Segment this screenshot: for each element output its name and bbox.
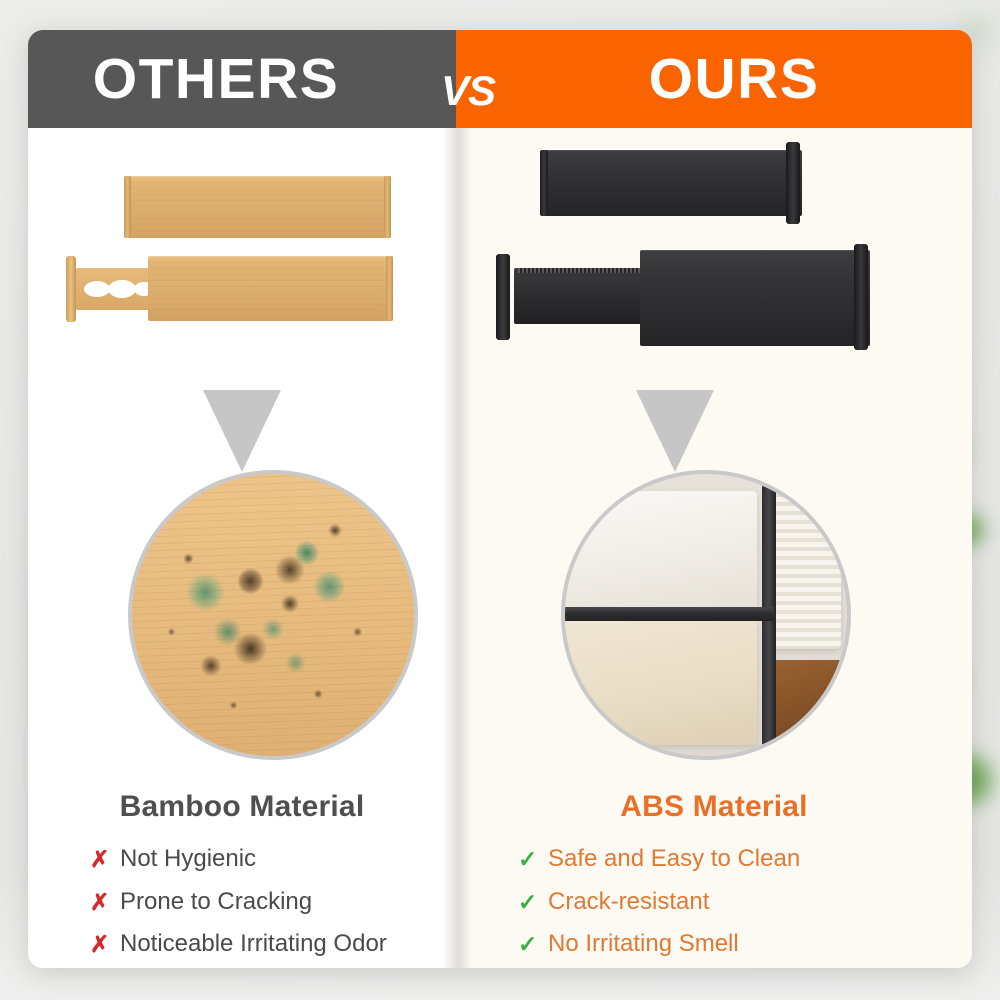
list-item: ✗ Noticeable Irritating Odor (90, 923, 456, 966)
others-footer: Bamboo Material ✗ Not Hygienic ✗ Prone t… (28, 790, 456, 966)
check-icon: ✓ (518, 924, 548, 965)
bamboo-cap-right-bottom (386, 256, 393, 321)
check-icon: ✓ (518, 882, 548, 923)
bamboo-slot-1 (84, 281, 110, 297)
header-others-label: OTHERS (28, 30, 456, 128)
bamboo-end-cap (66, 256, 76, 322)
check-icon: ✓ (518, 839, 548, 880)
header-others-panel: OTHERS (28, 30, 456, 128)
linen-drawer-inset (561, 470, 851, 760)
header-ours-label: OURS (456, 30, 972, 128)
list-item: ✗ Not Hygienic (90, 838, 456, 881)
bullet-label: Noticeable Irritating Odor (120, 923, 387, 966)
bamboo-grain-texture (126, 176, 391, 238)
comparison-card: OTHERS OURS VS (28, 30, 972, 968)
list-item: ✓ No Irritating Smell (518, 923, 972, 966)
bamboo-product-image (28, 128, 456, 388)
header-ours-panel: OURS (456, 30, 972, 128)
bamboo-grain-texture-2 (148, 256, 393, 321)
abs-cap-right-top (786, 142, 800, 224)
abs-edge-top-left (540, 150, 548, 216)
cross-icon: ✗ (90, 839, 120, 880)
versus-badge: VS (432, 66, 504, 116)
abs-pros-list: ✓ Safe and Easy to Clean ✓ Crack-resista… (518, 838, 972, 966)
bamboo-cons-list: ✗ Not Hygienic ✗ Prone to Cracking ✗ Not… (90, 838, 456, 966)
bamboo-divider-extended (148, 256, 393, 321)
left-pointer-triangle (203, 390, 281, 472)
abs-product-image (456, 128, 972, 388)
comparison-header: OTHERS OURS VS (28, 30, 972, 128)
others-pane: Bamboo Material ✗ Not Hygienic ✗ Prone t… (28, 128, 456, 968)
comparison-body: Bamboo Material ✗ Not Hygienic ✗ Prone t… (28, 128, 972, 968)
cross-icon: ✗ (90, 882, 120, 923)
abs-material-title: ABS Material (456, 790, 972, 824)
bamboo-spring-arm (76, 268, 156, 310)
cross-icon: ✗ (90, 924, 120, 965)
folded-towel-beige (561, 621, 757, 745)
bullet-label: No Irritating Smell (548, 923, 739, 966)
abs-divider-closed (544, 150, 802, 216)
folded-towel-white (561, 491, 757, 609)
bullet-label: Safe and Easy to Clean (548, 838, 800, 881)
abs-rail-teeth (518, 268, 646, 273)
abs-divider-extended (640, 250, 870, 346)
abs-cap-right-bottom (854, 244, 868, 350)
rolled-towel (768, 497, 841, 649)
ours-pane: ABS Material ✓ Safe and Easy to Clean ✓ … (456, 128, 972, 968)
list-item: ✓ Crack-resistant (518, 881, 972, 924)
abs-extension-rail (514, 268, 646, 324)
bullet-label: Not Hygienic (120, 838, 256, 881)
moldy-bamboo-inset (128, 470, 418, 760)
bamboo-material-title: Bamboo Material (28, 790, 456, 824)
bullet-label: Crack-resistant (548, 881, 709, 924)
abs-divider-horizontal (561, 607, 774, 621)
bamboo-divider-closed (126, 176, 391, 238)
list-item: ✓ Safe and Easy to Clean (518, 838, 972, 881)
bamboo-cap-right-top (384, 176, 391, 238)
list-item: ✗ Prone to Cracking (90, 881, 456, 924)
bullet-label: Prone to Cracking (120, 881, 312, 924)
ours-footer: ABS Material ✓ Safe and Easy to Clean ✓ … (456, 790, 972, 966)
abs-end-cap (496, 254, 510, 340)
bamboo-cap-left-top (124, 176, 131, 238)
bamboo-slot-2 (108, 280, 136, 298)
right-pointer-triangle (636, 390, 714, 472)
